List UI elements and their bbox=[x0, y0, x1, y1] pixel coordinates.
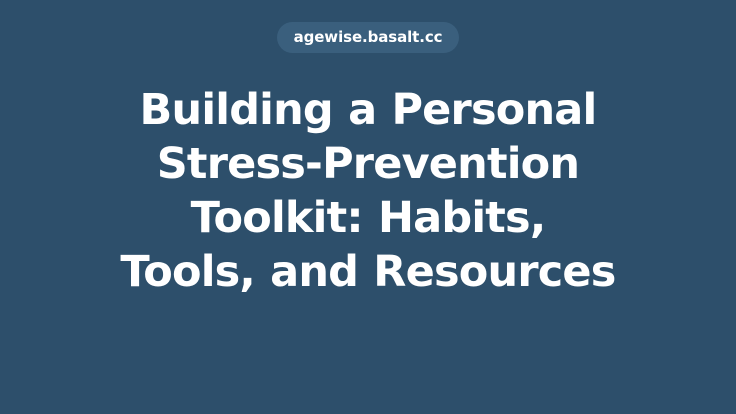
page-title-line-3: Toolkit: Habits, bbox=[38, 191, 698, 245]
page-title-line-4: Tools, and Resources bbox=[38, 245, 698, 299]
page-title: Building a Personal Stress-Prevention To… bbox=[38, 83, 698, 299]
title-card-slide: agewise.basalt.cc Building a Personal St… bbox=[0, 0, 736, 414]
page-title-line-2: Stress-Prevention bbox=[38, 137, 698, 191]
page-title-line-1: Building a Personal bbox=[38, 83, 698, 137]
domain-badge: agewise.basalt.cc bbox=[277, 22, 460, 53]
badge-row: agewise.basalt.cc bbox=[0, 22, 736, 53]
headline-block: Building a Personal Stress-Prevention To… bbox=[0, 83, 736, 299]
